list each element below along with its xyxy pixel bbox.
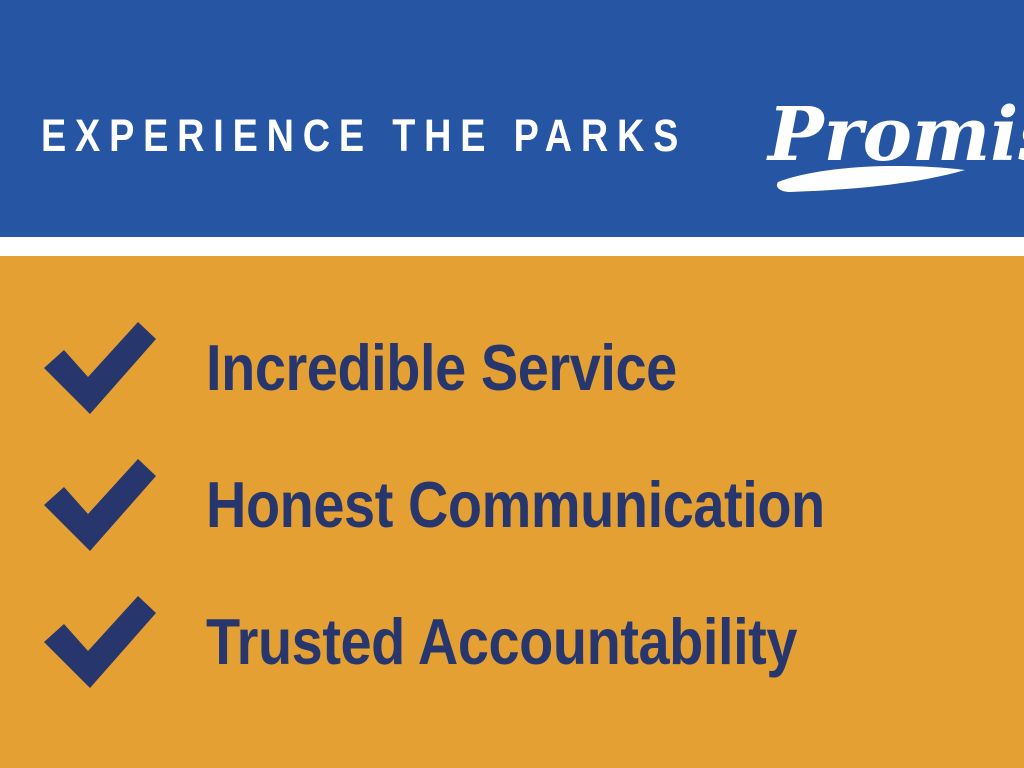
separator-band xyxy=(0,237,1024,256)
header-band: EXPERIENCE THE PARKS Promise xyxy=(0,0,1024,237)
headline: EXPERIENCE THE PARKS xyxy=(41,96,810,162)
list-item: Incredible Service xyxy=(44,316,1004,420)
list-item: Honest Communication xyxy=(44,453,1004,557)
promise-item-label: Honest Communication xyxy=(206,470,825,540)
list-item: Trusted Accountability xyxy=(44,590,1004,694)
promise-list: Incredible Service Honest Communication … xyxy=(0,256,1024,768)
headline-script-wordmark: Promise xyxy=(760,84,990,194)
checkmark-icon xyxy=(44,322,156,414)
promise-panel: Incredible Service Honest Communication … xyxy=(0,256,1024,768)
headline-script-text: Promise xyxy=(766,92,1024,178)
checkmark-icon xyxy=(44,596,156,688)
promise-item-label: Trusted Accountability xyxy=(206,607,797,677)
promise-graphic: EXPERIENCE THE PARKS Promise Incredible … xyxy=(0,0,1024,768)
checkmark-icon xyxy=(44,459,156,551)
headline-caps-text: EXPERIENCE THE PARKS xyxy=(41,113,687,158)
promise-item-label: Incredible Service xyxy=(206,333,677,403)
